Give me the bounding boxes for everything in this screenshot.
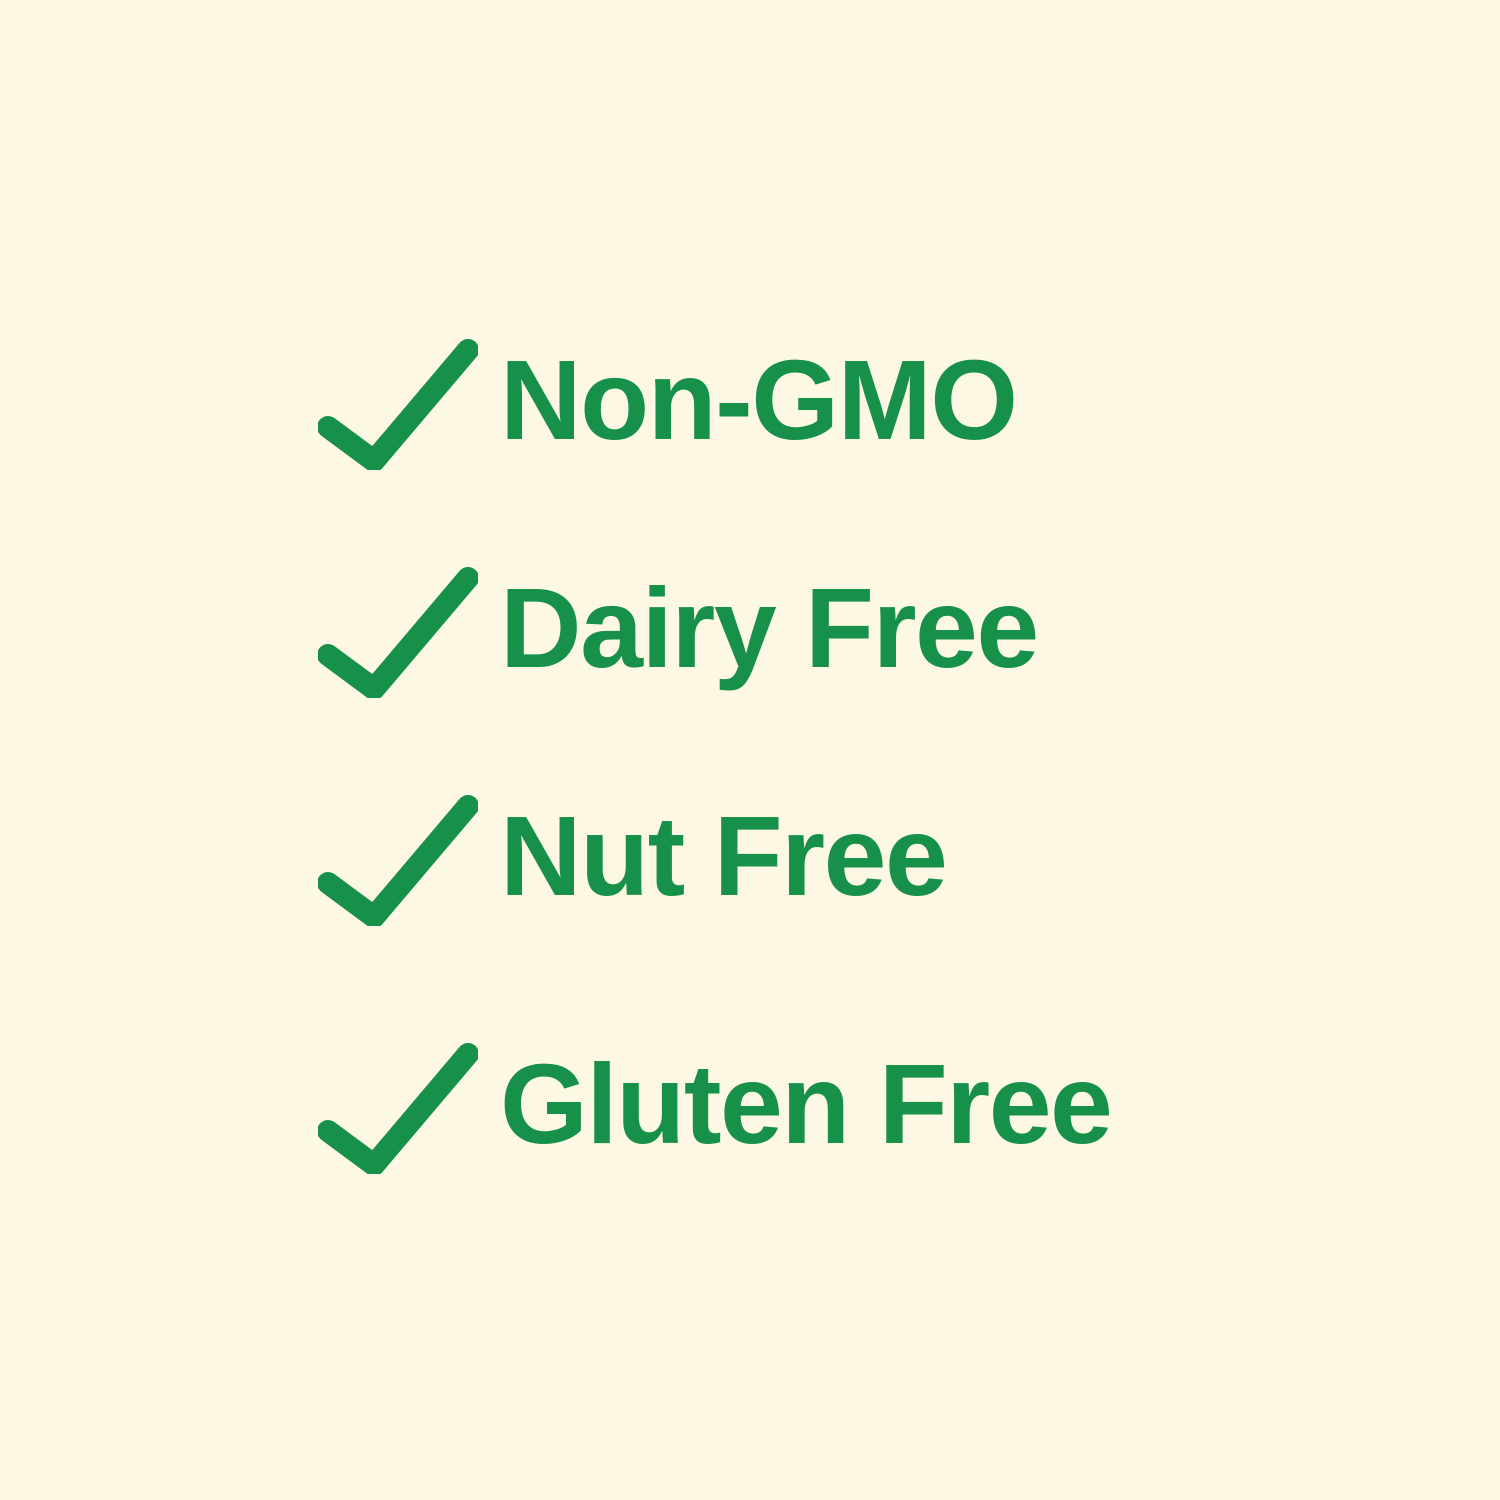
- claim-label: Nut Free: [500, 800, 946, 913]
- claim-row-non-gmo: Non-GMO: [318, 330, 1218, 470]
- dietary-claims-panel: Non-GMO Dairy Free Nut Free: [0, 0, 1500, 1500]
- checkmark-icon: [318, 330, 478, 470]
- checkmark-icon: [318, 558, 478, 698]
- claim-label: Non-GMO: [500, 344, 1017, 457]
- dietary-claims-list: Non-GMO Dairy Free Nut Free: [318, 330, 1218, 1174]
- checkmark-icon: [318, 786, 478, 926]
- checkmark-icon: [318, 1034, 478, 1174]
- claim-row-dairy-free: Dairy Free: [318, 558, 1218, 698]
- claim-row-gluten-free: Gluten Free: [318, 1034, 1218, 1174]
- claim-row-nut-free: Nut Free: [318, 786, 1218, 926]
- claim-label: Dairy Free: [500, 572, 1038, 685]
- claim-label: Gluten Free: [500, 1048, 1111, 1161]
